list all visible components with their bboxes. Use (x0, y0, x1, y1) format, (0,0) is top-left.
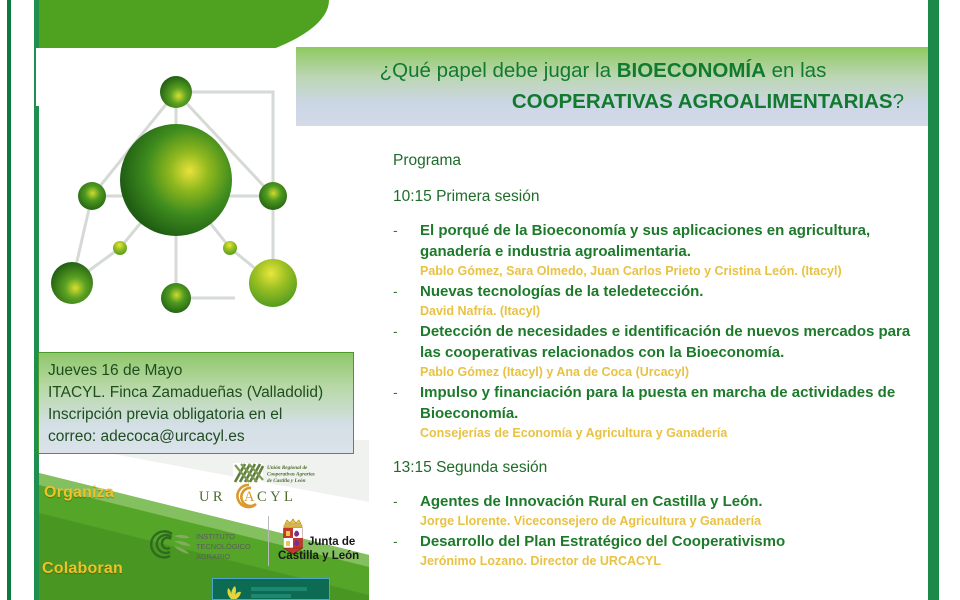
organiza-label: Organiza (44, 484, 114, 502)
title-keyword-cooperativas: COOPERATIVAS AGROALIMENTARIAS (512, 90, 893, 113)
item-bullet: - (393, 531, 420, 570)
ita-line-2: TECNOLÓGICO (196, 542, 251, 551)
item-title: Desarrollo del Plan Estratégico del Coop… (420, 531, 933, 552)
molecule-illustration (30, 30, 330, 330)
urcacyl-wordmark: UR (199, 489, 226, 505)
programme-item: - El porqué de la Bioeconomía y sus apli… (393, 220, 933, 280)
instituto-tecnologico-agrario-logo: INSTITUTO TECNOLÓGICO AGRARIO (148, 522, 260, 566)
item-speakers: Jorge Llorente. Viceconsejero de Agricul… (420, 512, 933, 530)
item-bullet: - (393, 321, 420, 381)
ita-line-1: INSTITUTO (196, 532, 235, 541)
registration-line-1: Inscripción previa obligatoria en el (48, 404, 343, 426)
title-keyword-bioeconomia: BIOECONOMÍA (617, 59, 766, 82)
item-bullet: - (393, 220, 420, 280)
item-bullet: - (393, 382, 420, 442)
title-line-2: COOPERATIVAS AGROALIMENTARIAS? (296, 86, 910, 117)
junta-castilla-leon-logo: Junta de Castilla y León (277, 518, 373, 566)
session-2-items: - Agentes de Innovación Rural en Castill… (393, 491, 933, 570)
title-line-2-suffix: ? (893, 90, 904, 113)
ita-line-3: AGRARIO (196, 552, 230, 561)
programme-item: - Detección de necesidades e identificac… (393, 321, 933, 381)
junta-line-1: Junta de (308, 536, 355, 548)
session-1-title: 10:15 Primera sesión (393, 186, 933, 208)
registration-email-line: correo: adecoca@urcacyl.es (48, 426, 343, 448)
programme-heading: Programa (393, 150, 933, 172)
left-outer-border (7, 0, 11, 600)
item-title: Impulso y financiación para la puesta en… (420, 382, 933, 424)
logo-divider (268, 516, 269, 566)
title-line-1-prefix: ¿Qué papel debe jugar la (380, 59, 617, 82)
poster-title-banner: ¿Qué papel debe jugar la BIOECONOMÍA en … (296, 47, 928, 126)
item-speakers: David Nafría. (Itacyl) (420, 302, 933, 320)
bottom-partner-logo (212, 578, 330, 600)
item-title: Nuevas tecnologías de la teledetección. (420, 281, 933, 302)
item-speakers: Jerónimo Lozano. Director de URCACYL (420, 552, 933, 570)
item-speakers: Pablo Gómez, Sara Olmedo, Juan Carlos Pr… (420, 262, 933, 280)
urcacyl-tagline-1: Unión Regional de (267, 465, 308, 471)
programme-item: - Impulso y financiación para la puesta … (393, 382, 933, 442)
title-line-1-suffix: en las (766, 59, 826, 82)
event-venue: ITACYL. Finca Zamadueñas (Valladolid) (48, 382, 343, 404)
event-info-box: Jueves 16 de Mayo ITACYL. Finca Zamadueñ… (38, 352, 354, 454)
title-line-1: ¿Qué papel debe jugar la BIOECONOMÍA en … (296, 55, 910, 86)
item-speakers: Consejerías de Economía y Agricultura y … (420, 424, 933, 442)
programme-item: - Nuevas tecnologías de la teledetección… (393, 281, 933, 320)
urcacyl-tagline-2: Cooperativas Agrarias (267, 472, 315, 478)
event-date: Jueves 16 de Mayo (48, 360, 343, 382)
item-title: El porqué de la Bioeconomía y sus aplica… (420, 220, 933, 262)
item-title: Detección de necesidades e identificació… (420, 321, 933, 363)
item-bullet: - (393, 281, 420, 320)
right-outer-margin (939, 0, 960, 600)
programme-item: - Agentes de Innovación Rural en Castill… (393, 491, 933, 530)
programme-item: - Desarrollo del Plan Estratégico del Co… (393, 531, 933, 570)
svg-text:CYL: CYL (257, 489, 296, 505)
svg-text:A: A (244, 489, 255, 505)
item-speakers: Pablo Gómez (Itacyl) y Ana de Coca (Urca… (420, 363, 933, 381)
item-title: Agentes de Innovación Rural en Castilla … (420, 491, 933, 512)
junta-line-2: Castilla y León (278, 550, 359, 562)
right-border (928, 0, 939, 600)
poster-canvas: Organiza Colaboran Jueves 16 de Mayo ITA… (0, 0, 960, 600)
item-bullet: - (393, 491, 420, 530)
session-1-items: - El porqué de la Bioeconomía y sus apli… (393, 220, 933, 442)
session-2-title: 13:15 Segunda sesión (393, 457, 933, 479)
urcacyl-tagline-3: de Castilla y León (267, 478, 306, 484)
colaboran-label: Colaboran (42, 560, 123, 578)
programme-section: Programa 10:15 Primera sesión - El porqu… (393, 150, 933, 571)
urcacyl-logo: Unión Regional de Cooperativas Agrarias … (197, 461, 345, 509)
